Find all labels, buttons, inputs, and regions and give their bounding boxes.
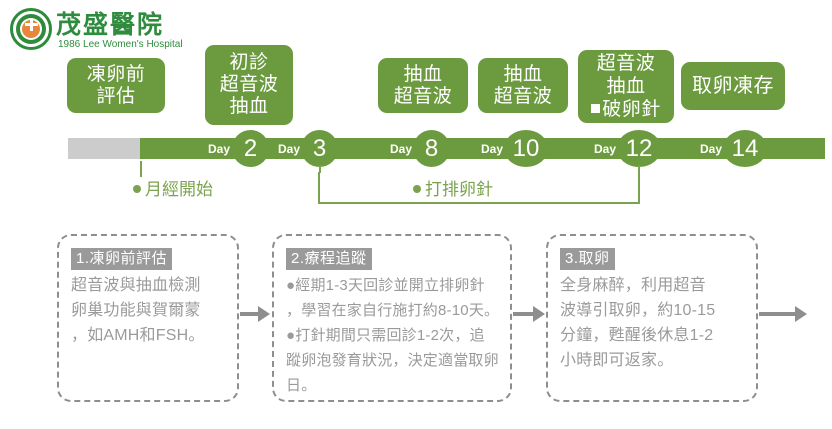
hospital-emblem-icon bbox=[10, 8, 52, 50]
phase-menstruation-stem bbox=[140, 161, 142, 177]
step-pre-freeze-assessment: 凍卵前 評估 bbox=[67, 58, 165, 113]
day-node-10: 10 bbox=[504, 130, 548, 167]
brand-logo: 茂盛醫院 1986 Lee Women's Hospital bbox=[8, 6, 238, 52]
card-egg-retrieval: 3.取卵 全身麻醉，利用超音 波導引取卵，約10-15 分鐘，甦醒後休息1-2 … bbox=[546, 234, 758, 402]
day-number: 8 bbox=[425, 137, 438, 161]
day-prefix-label-3: Day bbox=[278, 143, 300, 155]
step-label: 凍卵前 評估 bbox=[87, 64, 146, 108]
step-blood-ultrasound-2: 抽血 超音波 bbox=[478, 58, 568, 113]
step-label: 抽血 超音波 bbox=[394, 64, 453, 108]
card-title: 2.療程追蹤 bbox=[286, 248, 372, 270]
day-number: 3 bbox=[313, 137, 326, 161]
step-retrieval-freeze: 取卵凍存 bbox=[681, 62, 785, 110]
card-title: 1.凍卵前評估 bbox=[71, 248, 172, 270]
step-label: 超音波 抽血 bbox=[597, 52, 656, 98]
step-label: 抽血 超音波 bbox=[494, 64, 553, 108]
day-prefix-label-14: Day bbox=[700, 143, 722, 155]
day-node-3: 3 bbox=[301, 130, 338, 167]
arrow-shaft bbox=[513, 312, 533, 316]
arrow-card3-to-end bbox=[759, 307, 807, 321]
brand-name-en: 1986 Lee Women's Hospital bbox=[58, 39, 183, 51]
infographic-canvas: 茂盛醫院 1986 Lee Women's Hospital 凍卵前 評估 初診… bbox=[0, 0, 832, 429]
step-label-bulleted: 破卵針 bbox=[591, 98, 661, 121]
step-first-visit: 初診 超音波 抽血 bbox=[205, 45, 293, 125]
day-prefix-label-8: Day bbox=[390, 143, 412, 155]
day-node-14: 14 bbox=[723, 130, 767, 167]
day-prefix-label-10: Day bbox=[481, 143, 503, 155]
arrow-shaft bbox=[759, 312, 795, 316]
arrow-head-icon bbox=[795, 306, 807, 322]
card-treatment-tracking: 2.療程追蹤 ●經期1-3天回診並開立排卵針 ，學習在家自行施打約8-10天。 … bbox=[272, 234, 512, 402]
emblem-cross-horizontal bbox=[25, 23, 38, 26]
card-body: ●經期1-3天回診並開立排卵針 ，學習在家自行施打約8-10天。 ●打針期間只需… bbox=[286, 273, 500, 398]
day-number: 12 bbox=[626, 137, 653, 161]
bullet-dot-icon bbox=[133, 185, 141, 193]
step-bullet-text: 破卵針 bbox=[602, 99, 661, 120]
arrow-shaft bbox=[240, 312, 258, 316]
phase-label-text: 打排卵針 bbox=[425, 180, 493, 199]
card-body: 全身麻醉，利用超音 波導引取卵，約10-15 分鐘，甦醒後休息1-2 小時即可返… bbox=[560, 273, 746, 373]
brand-name-cn: 茂盛醫院 bbox=[56, 12, 164, 38]
day-number: 2 bbox=[244, 137, 257, 161]
phase-menstruation-label: 月經開始 bbox=[133, 180, 213, 200]
step-trigger-shot: 超音波 抽血 破卵針 bbox=[578, 50, 674, 123]
day-number: 14 bbox=[732, 137, 759, 161]
card-title: 3.取卵 bbox=[560, 248, 615, 270]
card-pre-freeze-assessment: 1.凍卵前評估 超音波與抽血檢測 卵巢功能與賀爾蒙 ，如AMH和FSH。 bbox=[57, 234, 239, 402]
square-bullet-icon bbox=[591, 104, 600, 113]
step-label: 取卵凍存 bbox=[692, 75, 774, 97]
day-node-12: 12 bbox=[617, 130, 661, 167]
phase-label-text: 月經開始 bbox=[145, 180, 213, 199]
arrow-head-icon bbox=[533, 306, 545, 322]
arrow-card1-to-card2 bbox=[240, 307, 270, 321]
day-number: 10 bbox=[513, 137, 540, 161]
day-node-2: 2 bbox=[232, 130, 269, 167]
step-blood-ultrasound-1: 抽血 超音波 bbox=[378, 58, 468, 113]
timeline-bar-pre-segment bbox=[68, 138, 140, 159]
day-prefix-label-12: Day bbox=[594, 143, 616, 155]
day-node-8: 8 bbox=[413, 130, 450, 167]
step-label: 初診 超音波 抽血 bbox=[220, 52, 279, 118]
phase-ovulation-label: 打排卵針 bbox=[413, 180, 493, 200]
day-prefix-label-2: Day bbox=[208, 143, 230, 155]
card-body: 超音波與抽血檢測 卵巢功能與賀爾蒙 ，如AMH和FSH。 bbox=[71, 273, 227, 348]
bullet-dot-icon bbox=[413, 185, 421, 193]
arrow-card2-to-card3 bbox=[513, 307, 545, 321]
arrow-head-icon bbox=[258, 306, 270, 322]
